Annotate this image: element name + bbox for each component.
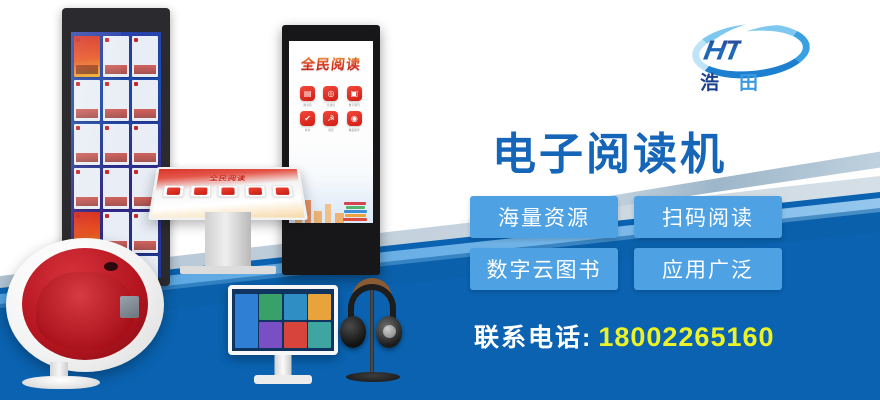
podium-card — [245, 185, 266, 197]
podium-base — [180, 266, 276, 274]
logo-chinese-name: 浩 田 — [700, 74, 758, 93]
contact-line: 联系电话: 18002265160 — [474, 318, 775, 354]
chair-base — [22, 376, 100, 389]
stand-base — [346, 372, 400, 382]
contact-label: 联系电话: — [474, 318, 592, 354]
kiosk-icon-label: 数字期刊 — [349, 103, 360, 107]
kiosk-icon-item: ◎ 党建馆 — [321, 86, 340, 107]
app-tile — [284, 294, 307, 320]
kiosk-icon-grid: ▤ 图书馆 ◎ 党建馆 ▣ 数字期刊 ✔ 听书 — [289, 74, 373, 132]
emblem-icon: ☭ — [323, 111, 338, 126]
feature-badge-wide-application[interactable]: 应用广泛 — [634, 248, 782, 290]
kiosk-icon-item: ◉ 精品推荐 — [345, 111, 364, 132]
podium-card — [190, 185, 211, 197]
book-cover — [132, 36, 158, 77]
aio-screen — [232, 289, 334, 351]
podium-card-row — [162, 185, 293, 197]
chair-control-pad — [120, 296, 139, 318]
podium-card — [218, 185, 239, 197]
product-scene: 全民阅读 ▤ 图书馆 ◎ 党建馆 ▣ 数字期刊 ✔ — [0, 0, 445, 400]
promo-banner: 全民阅读 ▤ 图书馆 ◎ 党建馆 ▣ 数字期刊 ✔ — [0, 0, 880, 400]
headphone-earcup-left — [340, 316, 366, 348]
check-icon: ✔ — [300, 111, 315, 126]
chair-speaker-hole — [104, 262, 118, 271]
podium-screen-title: 全民阅读 — [156, 174, 298, 183]
app-tile — [235, 294, 258, 348]
recommend-icon: ◉ — [347, 111, 362, 126]
feature-badge-massive-resources[interactable]: 海量资源 — [470, 196, 618, 238]
feature-badge-digital-cloud-library[interactable]: 数字云图书 — [470, 248, 618, 290]
ball-chair — [6, 238, 174, 388]
headphone-earcup-right — [376, 316, 402, 348]
kiosk-icon-item: ☭ 阅读 — [321, 111, 340, 132]
brand-logo: HT 浩 田 — [678, 22, 814, 104]
feature-badge-scan-to-read[interactable]: 扫码阅读 — [634, 196, 782, 238]
party-icon: ◎ — [323, 86, 338, 101]
podium-screen: 全民阅读 — [151, 169, 304, 218]
app-tile — [308, 322, 331, 348]
app-tile — [284, 322, 307, 348]
app-tile — [259, 294, 282, 320]
kiosk-screen-title: 全民阅读 — [289, 54, 373, 74]
logo-mark-text: HT — [702, 37, 743, 65]
logo-cn-char-1: 浩 — [700, 74, 719, 93]
logo-cn-char-2: 田 — [739, 74, 758, 93]
headphones-on-stand — [336, 272, 410, 390]
kiosk-icon-item: ▣ 数字期刊 — [345, 86, 364, 107]
podium-card — [162, 185, 184, 197]
aio-base — [254, 375, 312, 384]
podium-stem — [205, 212, 251, 270]
podium-card — [272, 185, 294, 197]
contact-number[interactable]: 18002265160 — [598, 322, 774, 353]
kiosk-icon-label: 图书馆 — [303, 103, 311, 107]
all-in-one-pc — [228, 285, 338, 390]
book-cover — [132, 80, 158, 121]
kiosk-icon-label: 阅读 — [328, 128, 334, 132]
journal-icon: ▣ — [347, 86, 362, 101]
kiosk-icon-label: 党建馆 — [327, 103, 335, 107]
kiosk-book-stack — [343, 199, 369, 221]
aio-body — [228, 285, 338, 355]
library-icon: ▤ — [300, 86, 315, 101]
kiosk-icon-item: ▤ 图书馆 — [298, 86, 317, 107]
kiosk-icon-item: ✔ 听书 — [298, 111, 317, 132]
app-tile — [308, 294, 331, 320]
aio-stand — [275, 355, 292, 377]
kiosk-icon-label: 听书 — [305, 128, 311, 132]
app-tile — [259, 322, 282, 348]
page-title: 电子阅读机 — [492, 118, 727, 182]
kiosk-icon-label: 精品推荐 — [349, 128, 360, 132]
